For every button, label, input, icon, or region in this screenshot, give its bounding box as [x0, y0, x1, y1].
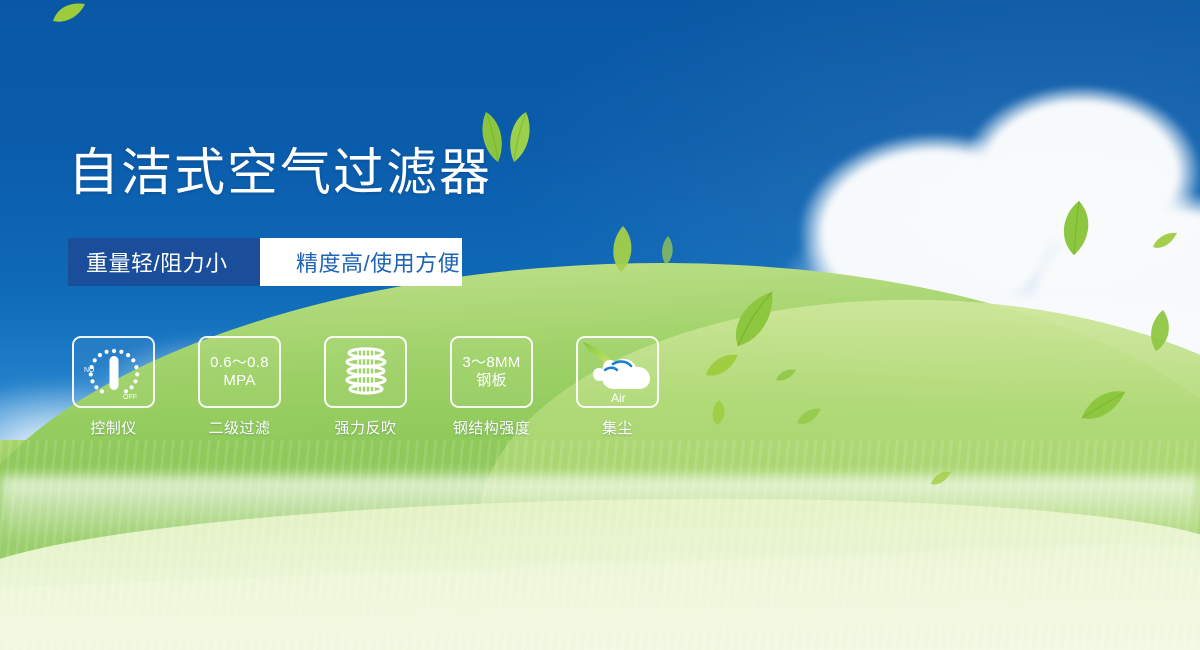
grass-texture — [0, 440, 1200, 650]
feature-icon-box: 3〜8MM 钢板 — [450, 336, 533, 408]
feature-label: 集尘 — [602, 417, 633, 438]
tagline-right: 精度高/使用方便 — [260, 238, 462, 286]
leaf-icon — [1055, 200, 1095, 256]
air-cloud-icon: Air — [581, 340, 655, 406]
leaf-icon — [52, 2, 86, 24]
leaf-icon — [930, 470, 952, 486]
leaf-icon — [728, 290, 776, 348]
pressure-unit: MPA — [210, 372, 269, 390]
gauge-off-label: OFF — [123, 394, 137, 401]
gauge-icon: NO OFF — [83, 343, 145, 401]
promo-banner: 自洁式空气过滤器 重量轻/阻力小 精度高/使用方便 — [0, 0, 1200, 650]
feature-icon-box: 0.6〜0.8 MPA — [198, 336, 281, 408]
tagline-left: 重量轻/阻力小 — [68, 238, 260, 286]
pressure-icon: 0.6〜0.8 MPA — [210, 354, 269, 391]
feature-label: 强力反吹 — [334, 417, 396, 438]
tagline-right-text: 精度高/使用方便 — [296, 246, 460, 278]
leaf-icon — [710, 400, 728, 426]
feature-item-steel[interactable]: 3〜8MM 钢板 钢结构强度 — [450, 336, 533, 438]
feature-item-controller[interactable]: NO OFF 控制仪 — [72, 336, 155, 438]
tagline-badge: 重量轻/阻力小 精度高/使用方便 — [68, 238, 462, 286]
steel-thickness: 3〜8MM — [462, 354, 520, 371]
leaf-icon — [1148, 310, 1174, 352]
leaf-icon — [1152, 232, 1178, 250]
feature-label: 钢结构强度 — [453, 417, 531, 438]
leaf-icon — [775, 368, 797, 382]
leaf-icon — [610, 226, 636, 272]
leaf-icon — [705, 352, 739, 378]
feature-label: 控制仪 — [90, 417, 137, 438]
air-label: Air — [611, 391, 626, 405]
leaf-icon — [660, 236, 676, 266]
tagline-left-text: 重量轻/阻力小 — [86, 246, 228, 278]
page-title: 自洁式空气过滤器 — [68, 146, 492, 200]
filter-stack-icon — [337, 344, 395, 400]
feature-item-dust[interactable]: Air 集尘 — [576, 336, 659, 438]
feature-item-backblow[interactable]: 强力反吹 — [324, 336, 407, 438]
feature-label: 二级过滤 — [208, 417, 270, 438]
steel-material: 钢板 — [462, 372, 520, 390]
feature-item-filtration[interactable]: 0.6〜0.8 MPA 二级过滤 — [198, 336, 281, 438]
gauge-no-label: NO — [84, 367, 95, 374]
leaf-icon — [1080, 388, 1126, 422]
feature-icon-box: Air — [576, 336, 659, 408]
feature-icon-box: NO OFF — [72, 336, 155, 408]
feature-list: NO OFF 控制仪 0.6〜0.8 MPA 二级过滤 — [72, 336, 659, 438]
leaf-icon — [796, 406, 822, 426]
feature-icon-box — [324, 336, 407, 408]
steel-plate-icon: 3〜8MM 钢板 — [462, 354, 520, 391]
pressure-range: 0.6〜0.8 — [210, 354, 269, 371]
